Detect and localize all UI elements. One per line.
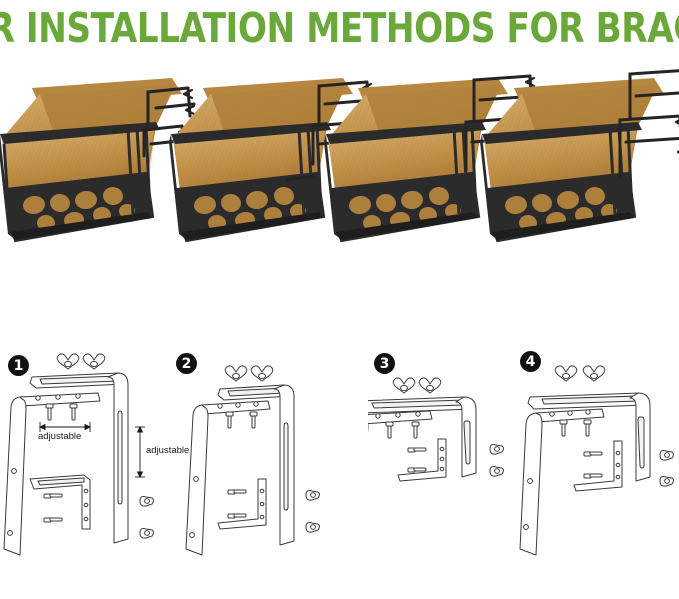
page-title: FOUR INSTALLATION METHODS FOR BRACKET — [0, 8, 679, 49]
installation-diagram-strip: 1 — [0, 349, 679, 599]
diagram-method-4: 4 — [516, 349, 679, 599]
title-bar: FOUR INSTALLATION METHODS FOR BRACKET — [0, 0, 679, 56]
diagram-method-2: 2 — [172, 349, 342, 599]
method-badge-2: 2 — [176, 353, 197, 374]
diagram-method-3: 3 — [368, 349, 533, 599]
method-badge-1: 1 — [8, 355, 29, 376]
product-photo-strip — [0, 56, 679, 301]
method-badge-4: 4 — [520, 351, 541, 372]
adjustable-label-horizontal-1: adjustable — [38, 431, 81, 442]
diagram-method-1: 1 — [0, 349, 180, 599]
method-badge-3: 3 — [374, 353, 395, 374]
planter-photo-4 — [478, 64, 678, 264]
